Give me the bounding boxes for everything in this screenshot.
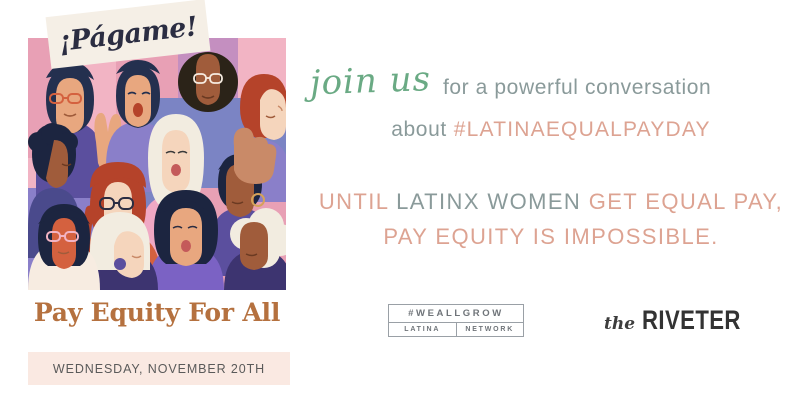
statement-line-1: UNTIL LATINX WOMEN GET EQUAL PAY, bbox=[310, 186, 792, 221]
sponsor-logo-row: #WEALLGROW LATINA NETWORK the RIVETER bbox=[388, 296, 788, 344]
statement-get-equal-pay: GET EQUAL PAY, bbox=[581, 189, 783, 214]
right-panel: join us for a powerful conversation abou… bbox=[310, 0, 800, 400]
weallgrow-latina-network-logo[interactable]: #WEALLGROW LATINA NETWORK bbox=[388, 304, 524, 337]
illustration-crowd-of-diverse-women bbox=[28, 38, 286, 290]
riveter-the-word: the bbox=[604, 314, 642, 334]
poster-canvas: ¡Págame! Pay Equity For All WEDNESDAY, N… bbox=[0, 0, 800, 400]
invite-text: for a powerful conversation bbox=[443, 76, 711, 100]
statement-line-2: PAY EQUITY IS IMPOSSIBLE. bbox=[310, 221, 792, 256]
weallgrow-wordmark: #WEALLGROW bbox=[389, 305, 523, 323]
the-riveter-logo[interactable]: the RIVETER bbox=[604, 305, 763, 336]
about-word: about bbox=[391, 118, 447, 141]
statement-block: UNTIL LATINX WOMEN GET EQUAL PAY, PAY EQ… bbox=[310, 186, 792, 256]
statement-impossible: PAY EQUITY IS IMPOSSIBLE. bbox=[383, 224, 718, 249]
invite-line-2: about#LATINAEQUALPAYDAY bbox=[310, 118, 792, 142]
weallgrow-network-label: NETWORK bbox=[457, 323, 524, 336]
weallgrow-latina-label: LATINA bbox=[389, 323, 456, 336]
statement-until: UNTIL bbox=[319, 189, 396, 214]
campaign-hashtag: #LATINAEQUALPAYDAY bbox=[447, 118, 711, 141]
statement-latinx-women: LATINX WOMEN bbox=[396, 189, 581, 214]
join-us-script: join us bbox=[309, 62, 443, 101]
figure-darkhair-front bbox=[148, 190, 224, 290]
event-date-text: WEDNESDAY, NOVEMBER 20TH bbox=[53, 362, 265, 376]
event-date-banner: WEDNESDAY, NOVEMBER 20TH bbox=[28, 352, 290, 385]
riveter-wordmark: RIVETER bbox=[642, 305, 741, 336]
artwork-svg bbox=[28, 38, 286, 290]
page-title: Pay Equity For All bbox=[28, 298, 286, 327]
invite-line-1: join us for a powerful conversation bbox=[310, 66, 800, 108]
left-panel: ¡Págame! Pay Equity For All WEDNESDAY, N… bbox=[0, 0, 310, 400]
weallgrow-subtitle-row: LATINA NETWORK bbox=[389, 323, 523, 336]
